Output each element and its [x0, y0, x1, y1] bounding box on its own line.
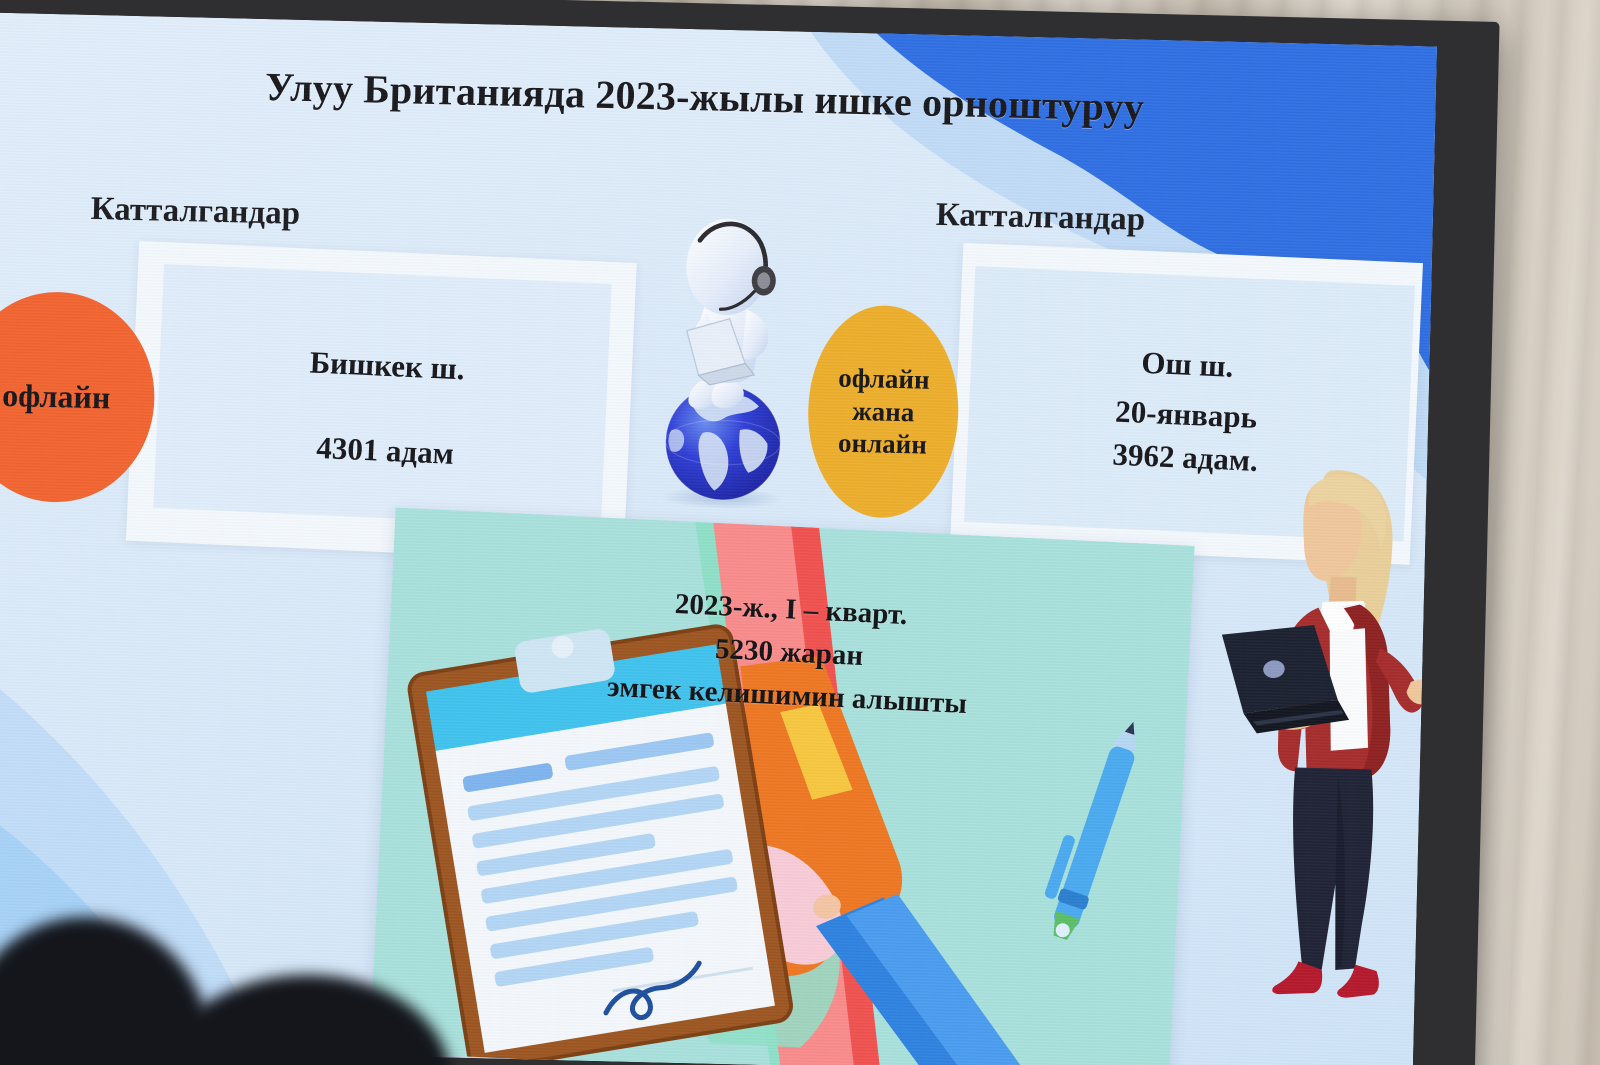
bottom-illustration: 2023-ж., I – кварт. 5230 жаран эмгек кел… — [369, 507, 1194, 1065]
right-bubble-line-2: жана — [852, 394, 915, 428]
left-block-heading: Катталгандар — [90, 191, 300, 233]
photo-scene: Улуу Британияда 2023-жылы ишке орноштуру… — [0, 0, 1600, 1065]
presentation-slide: Улуу Британияда 2023-жылы ишке орноштуру… — [0, 12, 1437, 1065]
display-monitor: Улуу Британияда 2023-жылы ишке орноштуру… — [0, 0, 1500, 1065]
person-on-globe-icon — [629, 196, 821, 510]
right-block-heading: Катталгандар — [935, 197, 1145, 239]
right-bubble-line-1: офлайн — [838, 361, 930, 396]
businesswoman-with-laptop-icon — [1207, 450, 1437, 1005]
right-bubble-line-3: онлайн — [838, 427, 928, 462]
monitor-bezel: Улуу Британияда 2023-жылы ишке орноштуру… — [0, 12, 1437, 1065]
